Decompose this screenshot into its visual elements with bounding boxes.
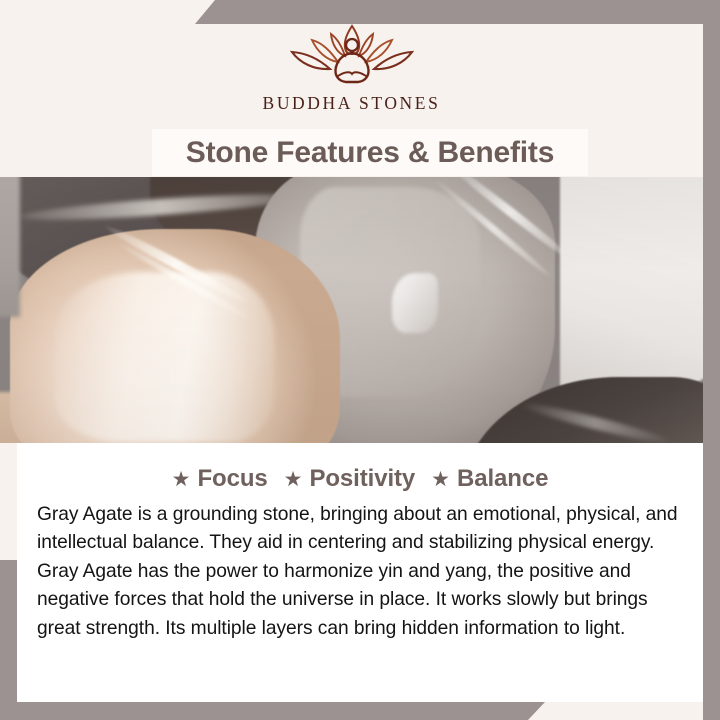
keyword-label-balance: Balance bbox=[457, 465, 548, 493]
star-icon: ★ bbox=[172, 469, 191, 490]
frame-bar-left bbox=[0, 560, 17, 720]
brand-wordmark: BUDDHA STONES bbox=[263, 93, 441, 114]
star-icon: ★ bbox=[431, 469, 450, 490]
photo-background-gap bbox=[560, 177, 703, 387]
star-icon: ★ bbox=[284, 469, 303, 490]
keyword-label-focus: Focus bbox=[197, 465, 267, 493]
lotus-meditating-figure-icon bbox=[276, 22, 428, 86]
keyword-item-positivity: ★ Positivity bbox=[284, 465, 416, 493]
infographic-card: BUDDHA STONES Stone Features & Benefits … bbox=[0, 0, 720, 720]
keyword-label-positivity: Positivity bbox=[309, 465, 415, 493]
frame-bar-bottom bbox=[0, 702, 560, 720]
content-panel: ★ Focus ★ Positivity ★ Balance Gray Agat… bbox=[17, 443, 703, 702]
keyword-row: ★ Focus ★ Positivity ★ Balance bbox=[25, 465, 695, 493]
title-banner: Stone Features & Benefits bbox=[152, 129, 588, 176]
brand-logo: BUDDHA STONES bbox=[0, 22, 703, 127]
frame-bar-top bbox=[195, 0, 720, 24]
frame-bar-right bbox=[703, 0, 720, 720]
photo-gray-sparkle bbox=[392, 273, 438, 333]
keyword-item-focus: ★ Focus bbox=[172, 465, 268, 493]
page-title: Stone Features & Benefits bbox=[186, 136, 554, 170]
stone-photo: Gray Agate bbox=[0, 177, 703, 443]
keyword-item-balance: ★ Balance bbox=[431, 465, 548, 493]
stone-description: Gray Agate is a grounding stone, bringin… bbox=[37, 501, 685, 643]
photo-left-edge-stone bbox=[0, 177, 20, 317]
